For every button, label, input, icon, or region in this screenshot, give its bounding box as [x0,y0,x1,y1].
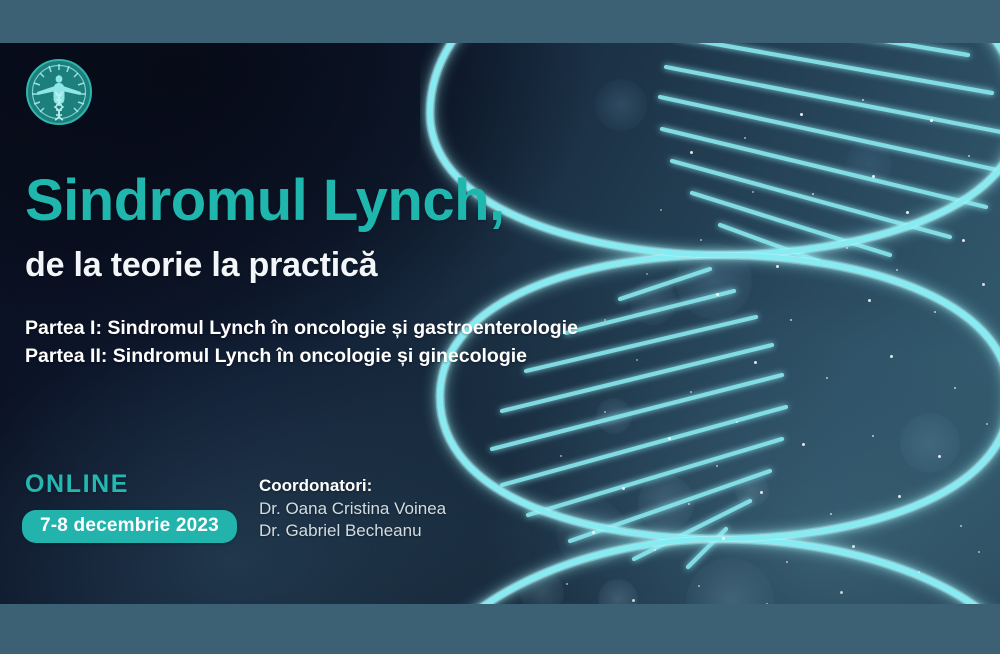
background-light-wash [380,183,1000,604]
page-subtitle: de la teorie la practică [25,248,377,284]
outer-frame: Sindromul Lynch, de la teorie la practic… [0,0,1000,654]
poster-canvas: Sindromul Lynch, de la teorie la practic… [0,43,1000,604]
coordinator-name-2: Dr. Gabriel Becheanu [259,520,446,543]
coordinators-block: Coordonatori: Dr. Oana Cristina Voinea D… [259,475,446,543]
date-badge: 7-8 decembrie 2023 [22,510,237,543]
coordinators-heading: Coordonatori: [259,475,446,498]
institution-logo[interactable] [25,58,93,126]
part-line-1: Partea I: Sindromul Lynch în oncologie ș… [25,315,578,343]
page-title: Sindromul Lynch, [25,171,505,230]
parts-list: Partea I: Sindromul Lynch în oncologie ș… [25,315,578,370]
format-label: ONLINE [25,470,129,499]
part-line-2: Partea II: Sindromul Lynch în oncologie … [25,343,578,371]
coordinator-name-1: Dr. Oana Cristina Voinea [259,498,446,521]
